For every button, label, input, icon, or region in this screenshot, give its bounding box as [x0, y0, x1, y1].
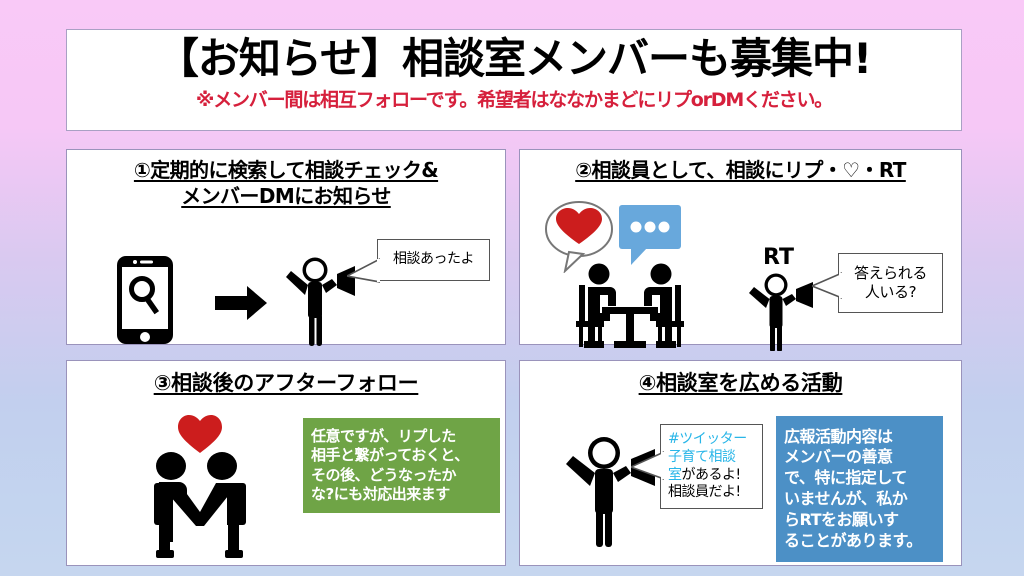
panel-2-rt-label: RT	[763, 245, 794, 270]
note-line-2: 相手と繋がっておくと、	[311, 446, 492, 466]
bubble-line3-rest: があるよ!	[682, 467, 741, 483]
panel-1: ①定期的に検索して相談チェック& メンバーDMにお知らせ	[66, 149, 506, 345]
panel-1-bubble-text: 相談あったよ	[393, 251, 474, 269]
note-line-4: な?にも対応出来ます	[311, 485, 492, 505]
bubble-hashtag-line2: 子育て相談	[668, 449, 736, 467]
person-megaphone-icon	[564, 430, 664, 548]
panel-2: ②相談員として、相談にリプ・♡・RT	[519, 149, 962, 345]
slide-canvas: 【お知らせ】相談室メンバーも募集中! ※メンバー間は相互フォローです。希望者はな…	[0, 0, 1024, 576]
panel-1-title: ①定期的に検索して相談チェック& メンバーDMにお知らせ	[67, 157, 505, 210]
note-line-4: いませんが、私か	[784, 489, 935, 510]
panel-4: ④相談室を広める活動 #ツイッター 子	[519, 360, 962, 566]
panel-3: ③相談後のアフターフォロー	[66, 360, 506, 566]
panel-2-speech-bubble: 答えられる 人いる?	[838, 253, 943, 313]
note-line-3: で、特に指定して	[784, 468, 935, 489]
note-line-6: ることがあります。	[784, 531, 935, 552]
panel-4-title: ④相談室を広める活動	[520, 370, 961, 398]
panel-4-speech-bubble: #ツイッター 子育て相談 室があるよ! 相談員だよ!	[660, 424, 763, 509]
note-line-1: 広報活動内容は	[784, 427, 935, 448]
chat-bubble-icon	[619, 205, 681, 267]
panel-3-title: ③相談後のアフターフォロー	[67, 370, 505, 398]
panel-4-blue-note: 広報活動内容は メンバーの善意 で、特に指定して いませんが、私か らRTをお願…	[776, 416, 943, 562]
bubble-tail	[347, 258, 380, 283]
bubble-line3: 室があるよ!	[668, 467, 741, 485]
two-people-table-icon	[568, 263, 692, 351]
panel-1-title-line1: ①定期的に検索して相談チェック&	[134, 158, 438, 182]
panel-2-bubble-line1: 答えられる	[854, 264, 927, 283]
smartphone-search-icon	[115, 254, 175, 346]
handshake-people-icon	[142, 450, 258, 560]
panel-3-green-note: 任意ですが、リプした 相手と繋がっておくと、 その後、どうなったか な?にも対応…	[303, 418, 500, 513]
right-arrow-icon	[215, 285, 267, 321]
page-title: 【お知らせ】相談室メンバーも募集中!	[157, 34, 871, 84]
panel-1-speech-bubble: 相談あったよ	[377, 239, 490, 281]
bubble-line4: 相談員だよ!	[668, 484, 741, 502]
note-line-3: その後、どうなったか	[311, 466, 492, 486]
heart-bubble-icon	[543, 199, 615, 273]
panel-2-bubble-line2: 人いる?	[865, 283, 916, 302]
bubble-tail	[631, 451, 664, 481]
note-line-5: らRTをお願いす	[784, 510, 935, 531]
note-line-2: メンバーの善意	[784, 447, 935, 468]
panel-2-title: ②相談員として、相談にリプ・♡・RT	[520, 157, 961, 183]
page-subtitle: ※メンバー間は相互フォローです。希望者はななかまどにリプorDMください。	[196, 85, 832, 112]
bubble-tail	[812, 272, 842, 300]
panel-1-title-line2: メンバーDMにお知らせ	[67, 183, 505, 209]
heart-icon	[177, 414, 223, 454]
title-card: 【お知らせ】相談室メンバーも募集中! ※メンバー間は相互フォローです。希望者はな…	[66, 29, 962, 131]
person-megaphone-icon	[748, 269, 820, 351]
bubble-hashtag-line3: 室	[668, 467, 682, 483]
note-line-1: 任意ですが、リプした	[311, 427, 492, 447]
bubble-hashtag-line1: #ツイッター	[668, 431, 747, 449]
